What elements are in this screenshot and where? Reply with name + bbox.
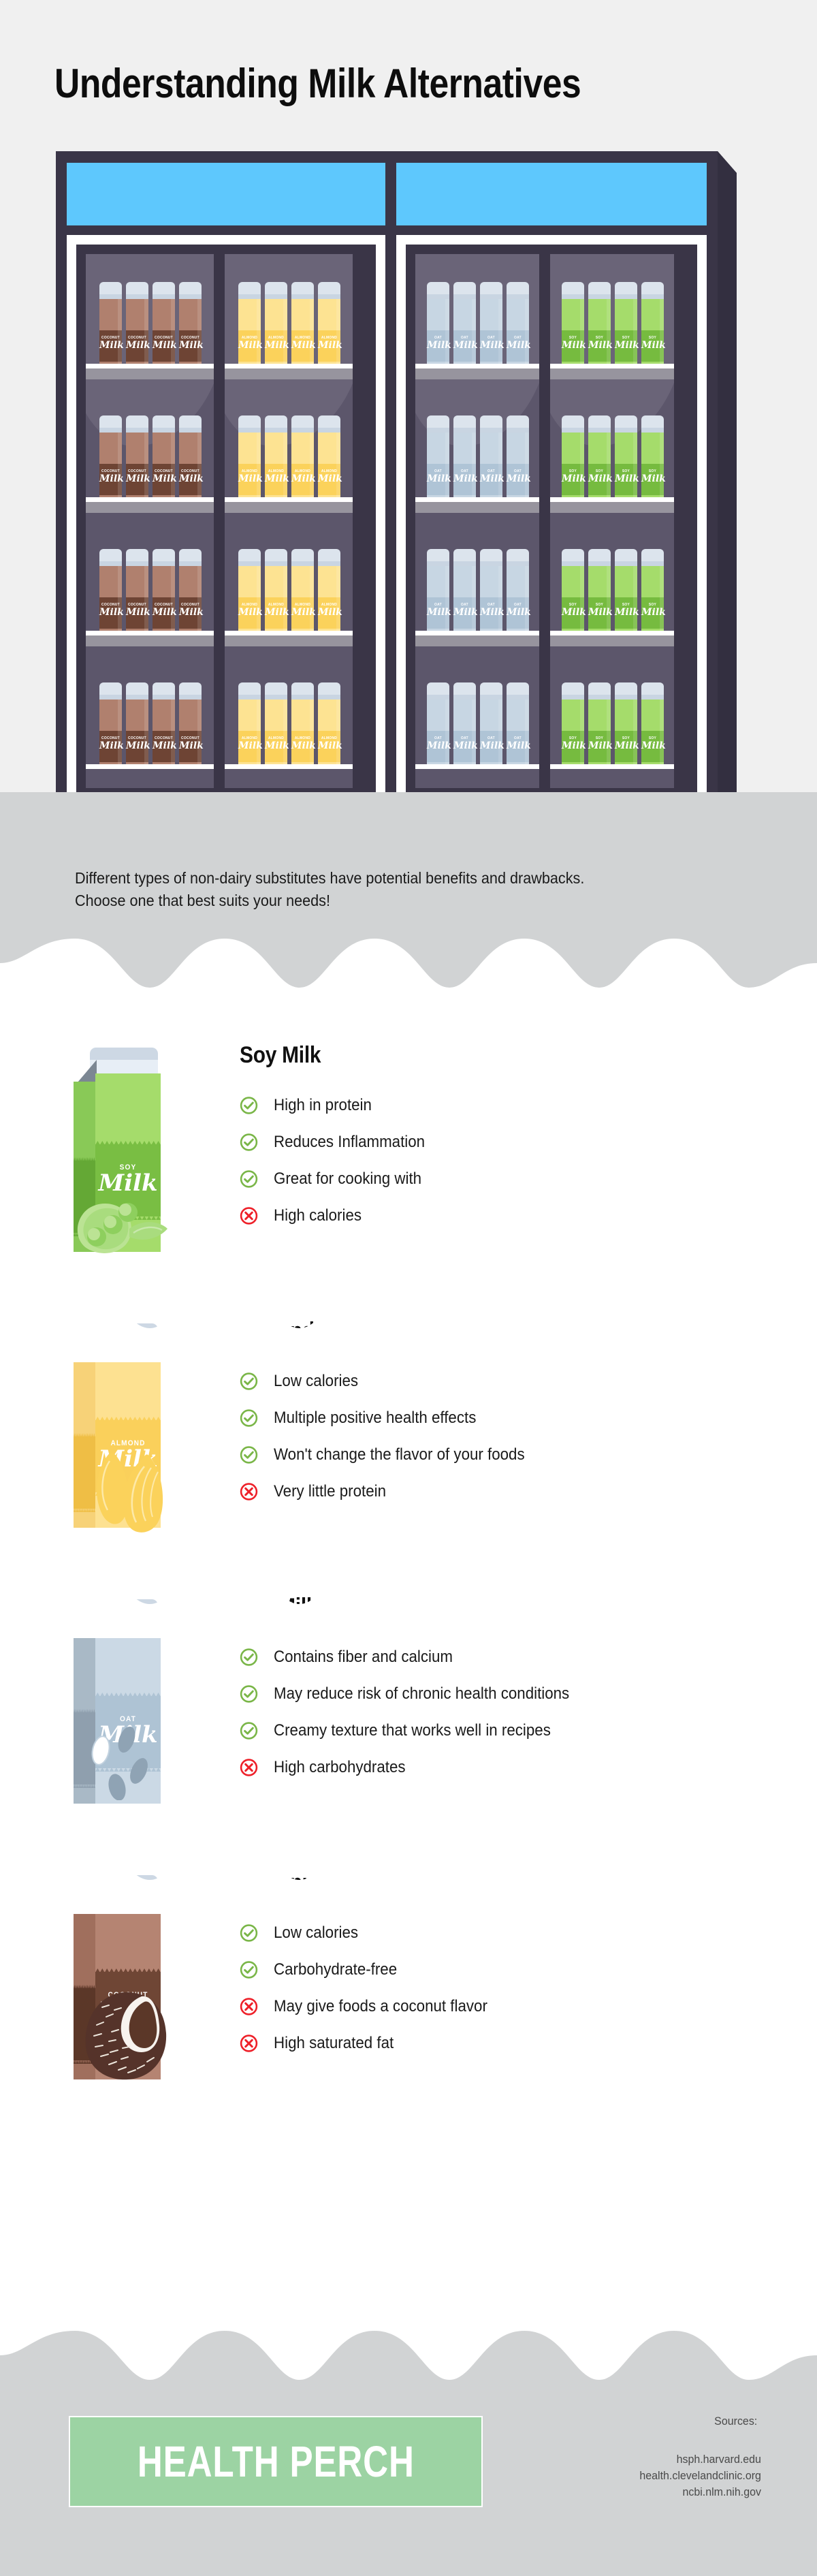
carton-body: ALMONDMilk bbox=[318, 566, 340, 635]
fridge-side-panel bbox=[718, 151, 737, 819]
carton-gloss bbox=[472, 700, 476, 769]
carton-gloss bbox=[445, 700, 449, 769]
carton-text: OATMilk bbox=[95, 1715, 161, 1748]
carton-cap bbox=[318, 415, 340, 434]
carton-kind-label: OAT bbox=[98, 1715, 158, 1723]
carton-body: COCONUTMilk bbox=[99, 299, 122, 368]
carton-cap bbox=[427, 549, 449, 567]
carton-cap bbox=[99, 549, 122, 567]
carton-body: OATMilk bbox=[453, 566, 476, 635]
carton-gloss bbox=[580, 433, 584, 502]
sources-label: Sources: bbox=[636, 2415, 758, 2428]
carton-side-panel bbox=[74, 1909, 97, 2079]
fridge-carton: ALMONDMilk bbox=[265, 549, 287, 635]
carton-body: ALMONDMilk bbox=[291, 700, 314, 769]
bullet-item: Contains fiber and calcium bbox=[240, 1639, 592, 1676]
fridge-carton: OATMilk bbox=[480, 282, 502, 368]
carton-gloss bbox=[310, 700, 314, 769]
carton-body: ALMONDMilk bbox=[318, 700, 340, 769]
carton-cap bbox=[238, 549, 261, 567]
carton-body: COCONUTMilk bbox=[99, 433, 122, 502]
product-section-soy: SOYMilkSoy MilkHigh in proteinReduces In… bbox=[0, 1042, 817, 1301]
fridge-carton: OATMilk bbox=[507, 282, 529, 368]
carton-cap bbox=[562, 682, 584, 701]
shelf-lip bbox=[550, 764, 674, 769]
carton-body: ALMONDMilk bbox=[238, 433, 261, 502]
fridge-carton: SOYMilk bbox=[562, 415, 584, 502]
carton-body: ALMONDMilk bbox=[265, 566, 287, 635]
fridge-carton: SOYMilk bbox=[588, 415, 611, 502]
product-title-soy: Soy Milk bbox=[240, 1042, 321, 1069]
carton-front-panel: COCONUTMilk bbox=[95, 1901, 161, 2079]
fridge-shelf bbox=[86, 368, 214, 379]
carton-body: COCONUTMilk bbox=[99, 566, 122, 635]
carton-gloss bbox=[607, 433, 611, 502]
carton-cap bbox=[427, 415, 449, 434]
fridge-carton: ALMONDMilk bbox=[291, 415, 314, 502]
carton-cap bbox=[588, 549, 611, 567]
carton-kind-label: SOY bbox=[98, 1163, 158, 1172]
carton-gloss bbox=[197, 299, 202, 368]
carton-body: COCONUTMilk bbox=[153, 700, 175, 769]
carton-body: SOYMilk bbox=[641, 433, 664, 502]
carton-body: ALMONDMilk bbox=[238, 566, 261, 635]
carton-gloss bbox=[144, 566, 148, 635]
carton-cap bbox=[562, 549, 584, 567]
fridge-carton: ALMONDMilk bbox=[238, 282, 261, 368]
carton-cap bbox=[615, 549, 637, 567]
product-bullets-soy: High in proteinReduces InflammationGreat… bbox=[240, 1087, 436, 1234]
carton-body: SOYMilk bbox=[615, 700, 637, 769]
carton-body: SOYMilk bbox=[588, 433, 611, 502]
carton-body: SOYMilk bbox=[562, 299, 584, 368]
carton-body: COCONUTMilk bbox=[179, 299, 202, 368]
fridge-carton: OATMilk bbox=[507, 415, 529, 502]
fridge-shelf bbox=[86, 635, 214, 646]
carton-gloss bbox=[310, 433, 314, 502]
carton-gloss bbox=[336, 700, 340, 769]
carton-gloss bbox=[525, 566, 529, 635]
carton-cap bbox=[179, 415, 202, 434]
carton-gloss bbox=[257, 433, 261, 502]
carton-gloss bbox=[607, 566, 611, 635]
carton-gloss bbox=[144, 299, 148, 368]
fridge-sign-right bbox=[396, 163, 707, 225]
bullet-item: Multiple positive health effects bbox=[240, 1400, 543, 1436]
carton-body: COCONUTMilk bbox=[153, 299, 175, 368]
carton-body: SOYMilk bbox=[562, 700, 584, 769]
bullet-text: High saturated fat bbox=[274, 2035, 394, 2052]
fridge-carton: SOYMilk bbox=[562, 682, 584, 769]
fridge-carton: OATMilk bbox=[480, 682, 502, 769]
carton-gloss bbox=[580, 700, 584, 769]
carton-cap bbox=[641, 549, 664, 567]
carton-cap bbox=[265, 549, 287, 567]
fridge-carton: COCONUTMilk bbox=[99, 282, 122, 368]
carton-cap bbox=[291, 282, 314, 300]
fridge-carton: COCONUTMilk bbox=[179, 549, 202, 635]
carton-cap bbox=[507, 549, 529, 567]
carton-gloss bbox=[257, 566, 261, 635]
bullet-item: High saturated fat bbox=[240, 2025, 504, 2062]
fridge-shelf bbox=[550, 502, 674, 513]
fridge-carton: ALMONDMilk bbox=[318, 549, 340, 635]
carton-cap bbox=[126, 549, 148, 567]
shelf-lip bbox=[225, 631, 353, 635]
check-circle-icon bbox=[240, 1961, 258, 1979]
shelf-lip bbox=[86, 497, 214, 502]
fridge-shelf bbox=[225, 502, 353, 513]
carton-gloss bbox=[336, 566, 340, 635]
carton-body: OATMilk bbox=[480, 700, 502, 769]
carton-cap bbox=[99, 682, 122, 701]
fridge-carton: ALMONDMilk bbox=[238, 682, 261, 769]
fridge-carton: SOYMilk bbox=[615, 682, 637, 769]
shelf-lip bbox=[86, 764, 214, 769]
logo-text: HEALTH PERCH bbox=[138, 2436, 415, 2487]
carton-side-panel bbox=[74, 1082, 97, 1252]
fridge-carton: COCONUTMilk bbox=[126, 282, 148, 368]
fridge-carton: OATMilk bbox=[427, 549, 449, 635]
bullet-text: High calories bbox=[274, 1208, 362, 1224]
carton-body: ALMONDMilk bbox=[265, 299, 287, 368]
carton-gloss bbox=[633, 299, 637, 368]
carton-cap bbox=[265, 415, 287, 434]
fridge-carton: COCONUTMilk bbox=[99, 682, 122, 769]
shelf-lip bbox=[550, 364, 674, 368]
carton-cap bbox=[641, 415, 664, 434]
fridge-carton: COCONUTMilk bbox=[153, 415, 175, 502]
carton-body: SOYMilk bbox=[588, 299, 611, 368]
shelf-lip bbox=[415, 364, 539, 368]
fridge-carton: ALMONDMilk bbox=[238, 549, 261, 635]
carton-cap bbox=[179, 549, 202, 567]
fridge-shelf bbox=[225, 635, 353, 646]
check-circle-icon bbox=[240, 1685, 258, 1703]
fridge-carton: COCONUTMilk bbox=[153, 682, 175, 769]
carton-body: COCONUTMilk bbox=[99, 700, 122, 769]
carton-gloss bbox=[580, 299, 584, 368]
fridge-carton: COCONUTMilk bbox=[126, 682, 148, 769]
carton-cap bbox=[238, 682, 261, 701]
carton-cap bbox=[153, 282, 175, 300]
carton-body: SOYMilk bbox=[562, 566, 584, 635]
fridge-carton: SOYMilk bbox=[588, 682, 611, 769]
carton-gloss bbox=[580, 566, 584, 635]
carton-cap bbox=[453, 549, 476, 567]
carton-coconut: COCONUTMilk bbox=[74, 1875, 161, 2079]
carton-body: OATMilk bbox=[480, 566, 502, 635]
check-circle-icon bbox=[240, 1372, 258, 1391]
product-title-oat: Oat Milk bbox=[240, 1594, 317, 1620]
fridge-carton: COCONUTMilk bbox=[126, 549, 148, 635]
bullet-item: Low calories bbox=[240, 1363, 543, 1400]
fridge-carton: SOYMilk bbox=[588, 549, 611, 635]
check-circle-icon bbox=[240, 1648, 258, 1667]
carton-body: ALMONDMilk bbox=[318, 299, 340, 368]
bullet-item: Great for cooking with bbox=[240, 1161, 436, 1197]
fridge-carton: ALMONDMilk bbox=[265, 282, 287, 368]
fridge-carton: OATMilk bbox=[427, 282, 449, 368]
carton-cap bbox=[615, 682, 637, 701]
carton-cap bbox=[265, 682, 287, 701]
check-circle-icon bbox=[240, 1409, 258, 1428]
carton-gloss bbox=[197, 700, 202, 769]
carton-body: SOYMilk bbox=[615, 433, 637, 502]
carton-gloss bbox=[336, 299, 340, 368]
fridge-shelf bbox=[415, 635, 539, 646]
carton-cap bbox=[507, 682, 529, 701]
carton-body: OATMilk bbox=[507, 700, 529, 769]
fridge-carton: COCONUTMilk bbox=[126, 415, 148, 502]
carton-body: OATMilk bbox=[507, 566, 529, 635]
fridge-carton: COCONUTMilk bbox=[179, 282, 202, 368]
carton-cap bbox=[126, 682, 148, 701]
fridge-carton: ALMONDMilk bbox=[291, 682, 314, 769]
x-circle-icon bbox=[240, 1483, 258, 1501]
carton-gloss bbox=[118, 566, 122, 635]
carton-cap bbox=[427, 282, 449, 300]
product-section-coconut: COCONUTMilkCoconut MilkLow caloriesCarbo… bbox=[0, 1870, 817, 2129]
fridge-carton: OATMilk bbox=[453, 682, 476, 769]
carton-front-panel: OATMilk bbox=[95, 1625, 161, 1804]
carton-body: OATMilk bbox=[427, 299, 449, 368]
fridge-carton: COCONUTMilk bbox=[99, 549, 122, 635]
carton-body: SOYMilk bbox=[562, 433, 584, 502]
fridge-shelf bbox=[415, 368, 539, 379]
shelf-lip bbox=[415, 631, 539, 635]
carton-body: SOYMilk bbox=[641, 299, 664, 368]
bullet-item: Carbohydrate-free bbox=[240, 1951, 504, 1988]
carton-milk-label: Milk bbox=[95, 1447, 161, 1472]
shelf-lip bbox=[225, 364, 353, 368]
carton-cap bbox=[265, 282, 287, 300]
carton-body: ALMONDMilk bbox=[291, 299, 314, 368]
fridge-shelf bbox=[225, 368, 353, 379]
health-perch-logo[interactable]: HEALTH PERCH bbox=[69, 2416, 483, 2507]
fridge-carton: ALMONDMilk bbox=[318, 415, 340, 502]
fridge-carton: OATMilk bbox=[507, 549, 529, 635]
bullet-text: Reduces Inflammation bbox=[274, 1134, 425, 1150]
bullet-item: High in protein bbox=[240, 1087, 436, 1124]
carton-cap bbox=[641, 682, 664, 701]
carton-text: SOYMilk bbox=[95, 1163, 161, 1196]
carton-cap bbox=[179, 282, 202, 300]
check-circle-icon bbox=[240, 1133, 258, 1152]
fridge-shelf bbox=[415, 502, 539, 513]
carton-gloss bbox=[118, 700, 122, 769]
carton-cap bbox=[562, 415, 584, 434]
carton-body: SOYMilk bbox=[588, 566, 611, 635]
bullet-item: Won't change the flavor of your foods bbox=[240, 1436, 543, 1473]
product-bullets-oat: Contains fiber and calciumMay reduce ris… bbox=[240, 1639, 592, 1786]
carton-side-band bbox=[74, 1712, 97, 1785]
source-link[interactable]: ncbi.nlm.nih.gov bbox=[639, 2484, 761, 2500]
carton-gloss bbox=[498, 566, 502, 635]
carton-body: ALMONDMilk bbox=[265, 700, 287, 769]
carton-cap bbox=[480, 682, 502, 701]
fridge-carton: OATMilk bbox=[427, 415, 449, 502]
fridge-carton: SOYMilk bbox=[641, 282, 664, 368]
carton-gloss bbox=[171, 700, 175, 769]
shelf-lip bbox=[415, 497, 539, 502]
carton-cap bbox=[238, 282, 261, 300]
fridge-carton: COCONUTMilk bbox=[99, 415, 122, 502]
carton-gloss bbox=[197, 433, 202, 502]
carton-cap bbox=[562, 282, 584, 300]
carton-kind-label: COCONUT bbox=[98, 1991, 158, 1999]
carton-gloss bbox=[445, 433, 449, 502]
carton-front-band: OATMilk bbox=[95, 1696, 161, 1768]
carton-milk-label: Milk bbox=[95, 1171, 161, 1196]
bullet-text: Low calories bbox=[274, 1925, 358, 1941]
carton-side-band bbox=[74, 1436, 97, 1509]
x-circle-icon bbox=[240, 2035, 258, 2053]
carton-gloss bbox=[660, 700, 664, 769]
carton-cap bbox=[291, 415, 314, 434]
carton-side-band bbox=[74, 1988, 97, 2060]
carton-gloss bbox=[498, 700, 502, 769]
carton-gloss bbox=[118, 433, 122, 502]
fridge-carton: OATMilk bbox=[480, 549, 502, 635]
carton-body: OATMilk bbox=[480, 433, 502, 502]
carton-gloss bbox=[660, 433, 664, 502]
fridge-carton: SOYMilk bbox=[641, 549, 664, 635]
carton-kind-label: ALMOND bbox=[98, 1439, 158, 1447]
bullet-text: Multiple positive health effects bbox=[274, 1410, 476, 1426]
carton-body: OATMilk bbox=[507, 299, 529, 368]
carton-gloss bbox=[633, 700, 637, 769]
sources-list: hsph.harvard.eduhealth.clevelandclinic.o… bbox=[632, 2451, 761, 2500]
carton-cap bbox=[291, 682, 314, 701]
carton-gloss bbox=[660, 299, 664, 368]
fridge-carton: ALMONDMilk bbox=[318, 682, 340, 769]
fridge-shelf bbox=[86, 502, 214, 513]
carton-gloss bbox=[283, 299, 287, 368]
carton-cap bbox=[453, 282, 476, 300]
carton-cap bbox=[238, 415, 261, 434]
refrigerator-illustration: COCONUTMilkCOCONUTMilkCOCONUTMilkCOCONUT… bbox=[56, 151, 762, 819]
carton-body: SOYMilk bbox=[641, 700, 664, 769]
carton-gloss bbox=[118, 299, 122, 368]
carton-body: OATMilk bbox=[427, 700, 449, 769]
carton-side-panel bbox=[74, 1633, 97, 1804]
product-section-almond: ALMONDMilkAlmond MilkLow caloriesMultipl… bbox=[0, 1318, 817, 1577]
bullet-text: Low calories bbox=[274, 1373, 358, 1389]
fridge-carton: SOYMilk bbox=[615, 282, 637, 368]
carton-body: ALMONDMilk bbox=[238, 299, 261, 368]
check-circle-icon bbox=[240, 1097, 258, 1115]
carton-gloss bbox=[633, 433, 637, 502]
fridge-carton: OATMilk bbox=[453, 415, 476, 502]
bullet-item: Reduces Inflammation bbox=[240, 1124, 436, 1161]
carton-body: OATMilk bbox=[453, 700, 476, 769]
carton-gloss bbox=[660, 566, 664, 635]
source-link[interactable]: hsph.harvard.edu bbox=[639, 2451, 761, 2468]
carton-body: SOYMilk bbox=[588, 700, 611, 769]
carton-gloss bbox=[472, 566, 476, 635]
x-circle-icon bbox=[240, 1207, 258, 1225]
carton-gloss bbox=[498, 433, 502, 502]
carton-gloss bbox=[283, 566, 287, 635]
carton-cap bbox=[153, 549, 175, 567]
bullet-item: Low calories bbox=[240, 1915, 504, 1951]
carton-cap bbox=[453, 682, 476, 701]
carton-cap bbox=[507, 282, 529, 300]
product-bullets-coconut: Low caloriesCarbohydrate-freeMay give fo… bbox=[240, 1915, 504, 2062]
carton-cap bbox=[641, 282, 664, 300]
carton-body: OATMilk bbox=[480, 299, 502, 368]
carton-cap bbox=[480, 415, 502, 434]
bullet-text: Carbohydrate-free bbox=[274, 1962, 397, 1978]
carton-cap bbox=[153, 415, 175, 434]
carton-cap bbox=[126, 282, 148, 300]
carton-gloss bbox=[607, 299, 611, 368]
fridge-carton: ALMONDMilk bbox=[291, 282, 314, 368]
carton-gloss bbox=[197, 566, 202, 635]
carton-cap bbox=[588, 682, 611, 701]
carton-body: OATMilk bbox=[453, 433, 476, 502]
carton-body: ALMONDMilk bbox=[291, 566, 314, 635]
fridge-carton: OATMilk bbox=[480, 415, 502, 502]
bullet-item: Creamy texture that works well in recipe… bbox=[240, 1712, 592, 1749]
carton-gloss bbox=[445, 299, 449, 368]
fridge-carton: ALMONDMilk bbox=[238, 415, 261, 502]
carton-gloss bbox=[525, 433, 529, 502]
carton-cap bbox=[99, 415, 122, 434]
carton-body: SOYMilk bbox=[615, 566, 637, 635]
bullet-text: Creamy texture that works well in recipe… bbox=[274, 1723, 551, 1739]
fridge-carton: ALMONDMilk bbox=[265, 415, 287, 502]
carton-milk-label: Milk bbox=[95, 1998, 161, 2024]
carton-front-band: SOYMilk bbox=[95, 1144, 161, 1216]
bullet-text: May give foods a coconut flavor bbox=[274, 1998, 487, 2015]
fridge-sign-left bbox=[67, 163, 385, 225]
source-link[interactable]: health.clevelandclinic.org bbox=[639, 2468, 761, 2484]
check-circle-icon bbox=[240, 1924, 258, 1943]
bullet-item: High carbohydrates bbox=[240, 1749, 592, 1786]
carton-body: COCONUTMilk bbox=[179, 433, 202, 502]
carton-cap bbox=[318, 549, 340, 567]
carton-gloss bbox=[171, 433, 175, 502]
carton-body: COCONUTMilk bbox=[126, 433, 148, 502]
carton-cap bbox=[507, 415, 529, 434]
bullet-item: High calories bbox=[240, 1197, 436, 1234]
fridge-carton: COCONUTMilk bbox=[179, 415, 202, 502]
carton-body: SOYMilk bbox=[615, 299, 637, 368]
shelf-lip bbox=[86, 364, 214, 368]
carton-gloss bbox=[525, 299, 529, 368]
fridge-carton: SOYMilk bbox=[562, 549, 584, 635]
check-circle-icon bbox=[240, 1446, 258, 1464]
carton-body: OATMilk bbox=[427, 433, 449, 502]
shelf-lip bbox=[550, 497, 674, 502]
x-circle-icon bbox=[240, 1759, 258, 1777]
shelf-lip bbox=[86, 631, 214, 635]
carton-gloss bbox=[144, 433, 148, 502]
carton-gloss bbox=[310, 566, 314, 635]
carton-body: ALMONDMilk bbox=[265, 433, 287, 502]
fridge-carton: OATMilk bbox=[453, 282, 476, 368]
check-circle-icon bbox=[240, 1722, 258, 1740]
carton-gloss bbox=[310, 299, 314, 368]
carton-gloss bbox=[336, 433, 340, 502]
carton-gloss bbox=[498, 299, 502, 368]
carton-body: COCONUTMilk bbox=[179, 700, 202, 769]
carton-text: ALMONDMilk bbox=[95, 1439, 161, 1472]
carton-body: ALMONDMilk bbox=[291, 433, 314, 502]
carton-front-panel: ALMONDMilk bbox=[95, 1349, 161, 1528]
